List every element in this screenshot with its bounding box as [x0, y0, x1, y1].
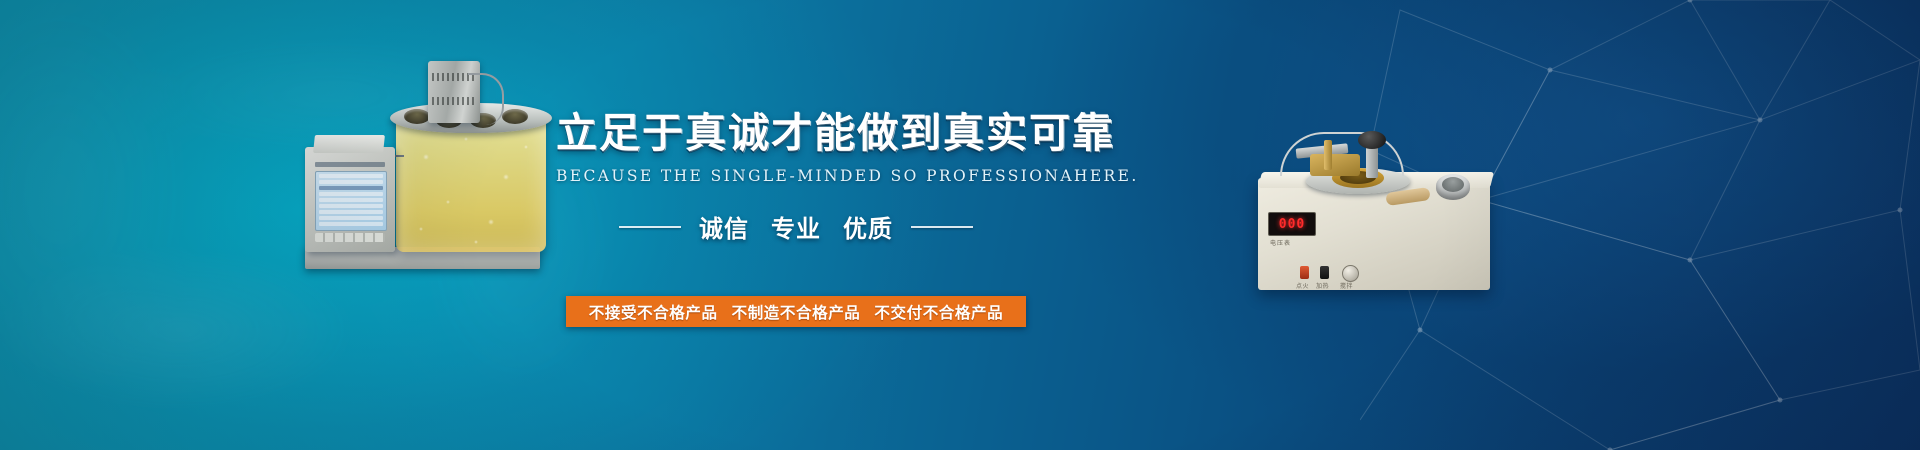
tester-brass-column [1324, 140, 1332, 170]
switch-label-stir: 搅拌 [1340, 281, 1353, 290]
tester-black-knob [1358, 131, 1386, 149]
control-unit-top-cover [313, 135, 385, 153]
slogan-no-deliver: 不交付不合格产品 [874, 301, 1003, 323]
tester-digital-display: 000 [1268, 212, 1316, 236]
tagline-words: 诚信 专业 优质 [699, 209, 893, 244]
tagline-word-integrity: 诚信 [699, 209, 749, 244]
switch-label-heat: 加热 [1316, 281, 1329, 290]
banner-text-block: 立足于真诚才能做到真实可靠 BECAUSE THE SINGLE-MINDED … [556, 112, 1036, 244]
tagline-rule-right [911, 226, 973, 228]
banner-tagline-row: 诚信 专业 优质 [556, 209, 1036, 244]
oil-bubbles [396, 117, 546, 252]
switch-label-ignition: 点火 [1296, 281, 1309, 290]
tagline-word-quality: 优质 [843, 209, 893, 244]
viscometer-oil-bath [396, 117, 546, 252]
tester-display-label: 电压表 [1270, 238, 1291, 247]
control-unit-lcd-screen [315, 171, 387, 231]
tester-display-value: 000 [1279, 217, 1305, 232]
control-unit-nameplate [315, 162, 385, 167]
tester-brass-mechanism [1310, 154, 1360, 176]
slogan-no-produce: 不制造不合格产品 [732, 301, 861, 323]
bath-port [502, 109, 528, 124]
device-image-viscometer-bath [300, 55, 550, 285]
tagline-word-professional: 专业 [771, 209, 821, 244]
bath-port [404, 109, 430, 124]
ignition-switch [1300, 266, 1309, 279]
tester-spare-cup-interior [1442, 177, 1464, 192]
banner-subheadline-english: BECAUSE THE SINGLE-MINDED SO PROFESSIONA… [556, 167, 1036, 185]
stir-control-knob [1342, 265, 1359, 282]
control-unit-keypad [315, 233, 385, 242]
quality-slogan-bar: 不接受不合格产品 不制造不合格产品 不交付不合格产品 [566, 296, 1026, 327]
slogan-no-accept: 不接受不合格产品 [589, 301, 718, 323]
promo-banner: 立足于真诚才能做到真实可靠 BECAUSE THE SINGLE-MINDED … [0, 0, 1920, 450]
tagline-rule-left [619, 226, 681, 228]
heater-switch [1320, 266, 1329, 279]
banner-headline: 立足于真诚才能做到真实可靠 [556, 112, 1036, 155]
heater-probe-wire [468, 73, 504, 125]
device-image-flash-point-tester: 000 电压表 点火 加热 搅拌 [1240, 128, 1500, 300]
viscometer-control-unit [305, 147, 395, 252]
